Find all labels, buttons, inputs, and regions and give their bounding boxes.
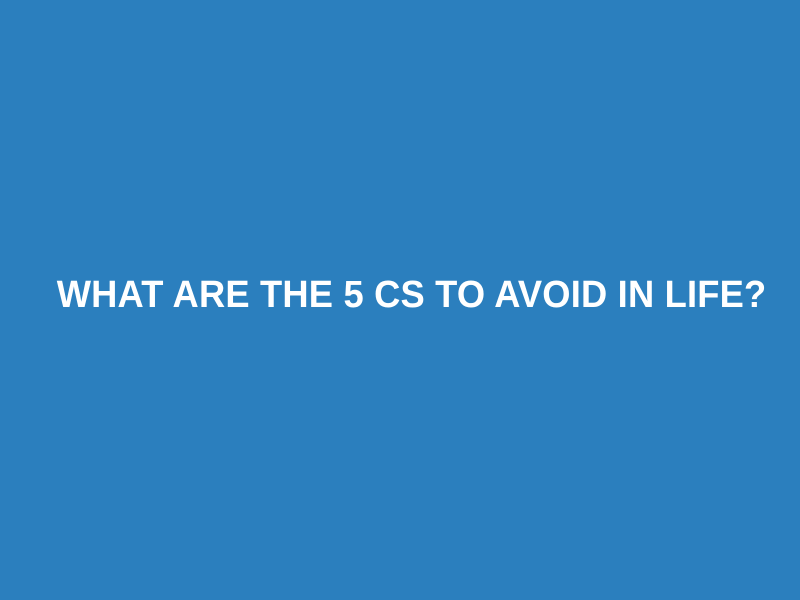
banner-headline: WHAT ARE THE 5 CS TO AVOID IN LIFE?: [57, 274, 767, 318]
headline-container: WHAT ARE THE 5 CS TO AVOID IN LIFE?: [0, 274, 800, 318]
featured-image-banner: WHAT ARE THE 5 CS TO AVOID IN LIFE?: [0, 0, 800, 600]
